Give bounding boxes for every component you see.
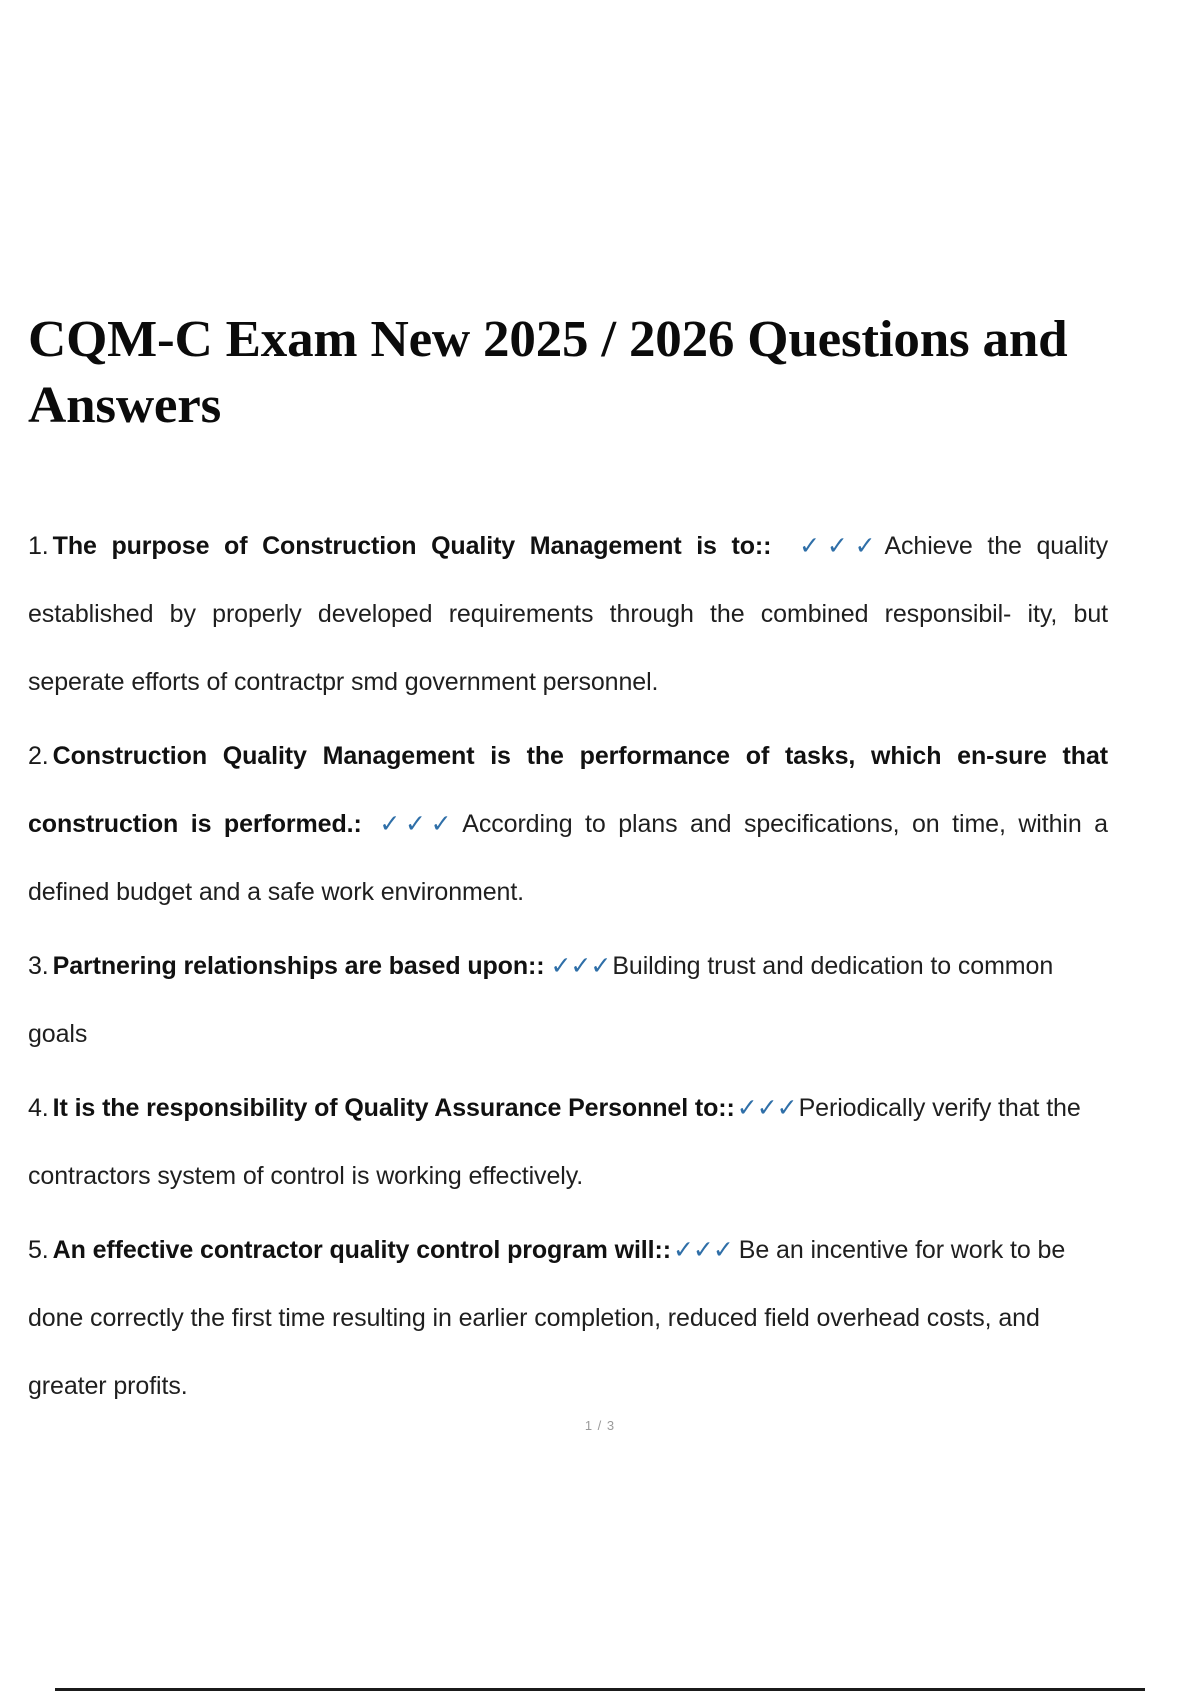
qa-number: 4. [28, 1094, 49, 1122]
checkmarks-icon: ✓✓✓ [735, 1094, 799, 1122]
page-title: CQM-C Exam New 2025 / 2026 Questions and… [28, 307, 1119, 439]
page-number-footer: 1 / 3 [0, 1418, 1200, 1433]
checkmarks-icon: ✓✓✓ [372, 810, 459, 838]
qa-number: 2. [28, 742, 49, 770]
bottom-divider [55, 1688, 1145, 1691]
document-page: CQM-C Exam New 2025 / 2026 Questions and… [0, 0, 1200, 1700]
qa-number: 1. [28, 532, 49, 560]
qa-entry-3: 3.Partnering relationships are based upo… [28, 932, 1108, 1068]
qa-entry-2: 2.Construction Quality Management is the… [28, 722, 1108, 926]
checkmarks-icon: ✓✓✓ [789, 532, 884, 560]
checkmarks-icon: ✓✓✓ [548, 952, 612, 980]
qa-question: An effective contractor quality control … [53, 1236, 671, 1264]
qa-question: The purpose of Construction Quality Mana… [53, 532, 772, 560]
qa-question: Partnering relationships are based upon:… [53, 952, 545, 980]
qa-entry-5: 5.An effective contractor quality contro… [28, 1216, 1108, 1420]
checkmarks-icon: ✓✓✓ [671, 1236, 735, 1264]
qa-number: 3. [28, 952, 49, 980]
qa-entry-1: 1.The purpose of Construction Quality Ma… [28, 512, 1108, 716]
qa-number: 5. [28, 1236, 49, 1264]
qa-entry-4: 4.It is the responsibility of Quality As… [28, 1074, 1108, 1210]
qa-question: It is the responsibility of Quality Assu… [53, 1094, 735, 1122]
qa-list: 1.The purpose of Construction Quality Ma… [28, 512, 1108, 1426]
